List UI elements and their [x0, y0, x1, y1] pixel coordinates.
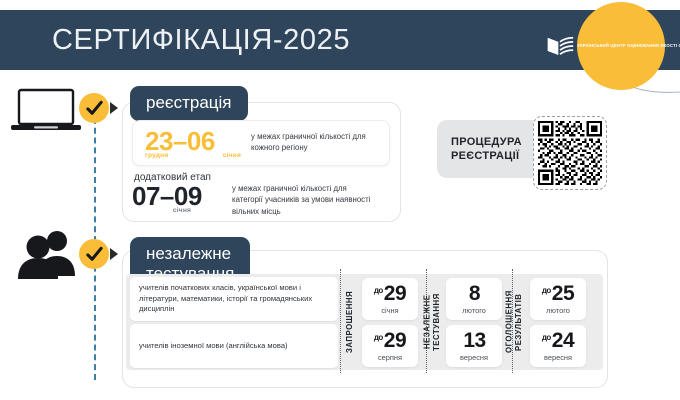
table-row: учителів іноземної мови (англійська мова…	[130, 324, 338, 368]
column-label-results: ОГОЛОШЕННЯ РЕЗУЛЬТАТІВ	[504, 276, 524, 368]
logo-text: УКРАЇНСЬКИЙ ЦЕНТР ОЦІНЮВАННЯ ЯКОСТІ ОСВІ…	[577, 43, 680, 49]
check-mark-icon	[85, 245, 104, 264]
month: вересня	[446, 353, 502, 362]
registration-tab-label: реєстрація	[130, 86, 248, 121]
column-label-testing: НЕЗАЛЕЖНЕ ТЕСТУВАННЯ	[422, 276, 442, 368]
month: серпня	[362, 353, 418, 362]
prefix: до	[374, 286, 383, 295]
table-row: учителів початкових класів, української …	[130, 277, 338, 321]
date-cell-results-row2: до24 вересня	[530, 325, 586, 367]
testing-schedule-grid: учителів початкових класів, української …	[126, 274, 603, 370]
date-cell-invitation-row2: до29 серпня	[362, 325, 418, 367]
arrow-testing	[110, 248, 118, 260]
day: 24	[552, 329, 574, 352]
prefix: до	[374, 333, 383, 342]
registration-main-dates: 23–06	[145, 128, 241, 155]
day: 13	[463, 329, 485, 352]
main-month-start: грудня	[145, 152, 168, 159]
registration-extra-description: у межах граничної кількості для категорі…	[232, 183, 377, 217]
month: вересня	[530, 353, 586, 362]
open-book-icon	[546, 34, 574, 58]
date-cell-testing-row1: 8 лютого	[446, 278, 502, 320]
qr-label-text: ПРОЦЕДУРА РЕЄСТРАЦІЇ	[437, 135, 522, 164]
day: 8	[469, 282, 480, 305]
date-cell-testing-row2: 13 вересня	[446, 325, 502, 367]
date-cell-invitation-row1: до29 січня	[362, 278, 418, 320]
prefix: до	[542, 333, 551, 342]
testing-row-2-description: учителів іноземної мови (англійська мова…	[130, 341, 297, 352]
qr-code-image	[538, 121, 602, 185]
laptop-icon	[10, 88, 82, 136]
infographic-canvas: СЕРТИФІКАЦІЯ-2025 УКРАЇНСЬКИЙ ЦЕНТР ОЦІН…	[0, 0, 680, 400]
date-cell-results-row1: до25 лютого	[530, 278, 586, 320]
people-icon	[14, 228, 80, 280]
registration-main-description: у межах граничної кількості для кожного …	[251, 131, 381, 154]
registration-main-stage-row: 23–06 грудня січня у межах граничної кіл…	[132, 120, 390, 166]
main-month-end: січня	[223, 152, 241, 159]
day: 29	[384, 329, 406, 352]
check-mark-icon	[85, 99, 104, 118]
page-title: СЕРТИФІКАЦІЯ-2025	[52, 24, 350, 57]
prefix: до	[542, 286, 551, 295]
registration-main-months: грудня січня	[145, 152, 241, 159]
testing-row-1-description: учителів початкових класів, української …	[130, 283, 338, 315]
column-label-invitation: ЗАПРОШЕННЯ	[342, 276, 358, 368]
day: 25	[552, 282, 574, 305]
extra-month: січня	[173, 207, 191, 214]
month: січня	[362, 306, 418, 315]
arrow-registration	[110, 102, 118, 114]
qr-code[interactable]	[533, 116, 607, 190]
ukrainian-center-logo: УКРАЇНСЬКИЙ ЦЕНТР ОЦІНЮВАННЯ ЯКОСТІ ОСВІ…	[577, 2, 665, 90]
registration-extra-months: січня	[132, 207, 232, 214]
check-badge-registration	[79, 93, 109, 123]
check-badge-testing	[79, 239, 109, 269]
month: лютого	[530, 306, 586, 315]
registration-extra-dates: 07–09	[132, 183, 232, 210]
month: лютого	[446, 306, 502, 315]
column-separator	[340, 269, 341, 373]
day: 29	[384, 282, 406, 305]
